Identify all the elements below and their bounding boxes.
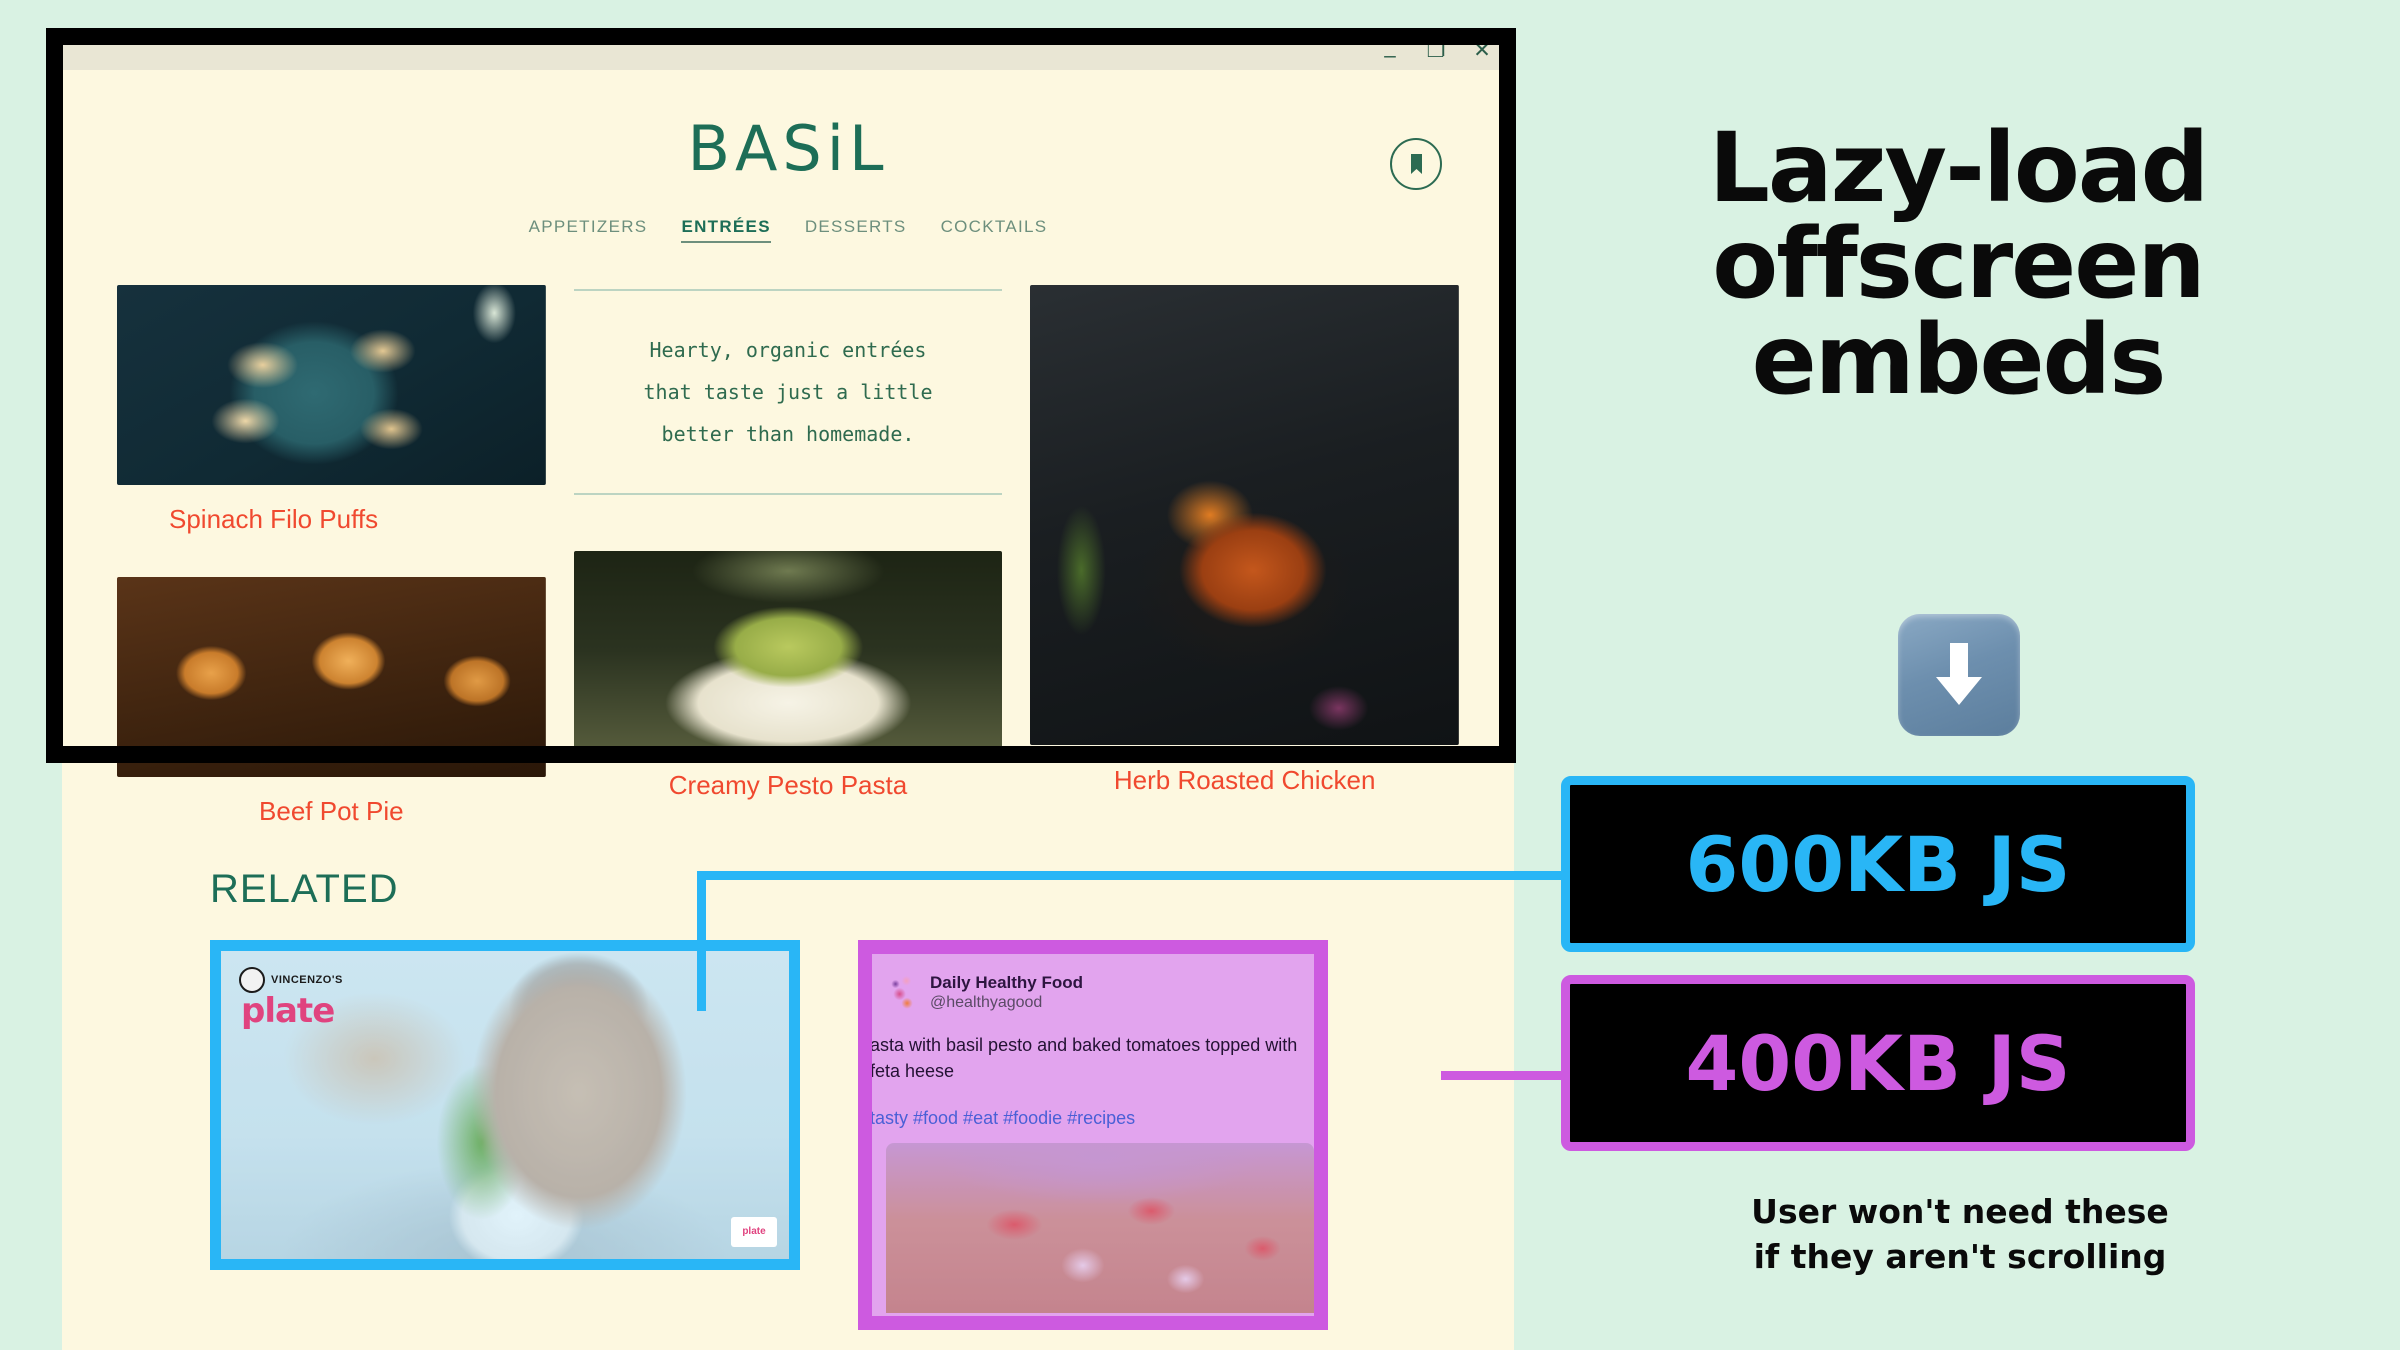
close-icon[interactable]: ✕ bbox=[1472, 40, 1492, 61]
tagline-line-0: Hearty, organic entrées bbox=[584, 329, 993, 371]
dish-image-spinach-filo-puffs[interactable] bbox=[117, 285, 546, 485]
menu-column-center: Hearty, organic entrées that taste just … bbox=[574, 285, 1003, 827]
tagline-box: Hearty, organic entrées that taste just … bbox=[574, 289, 1003, 495]
video-watermark: plate bbox=[731, 1217, 777, 1247]
site-brand: BASiL bbox=[62, 112, 1514, 185]
menu-grid: Spinach Filo Puffs Beef Pot Pie Hearty, … bbox=[62, 285, 1514, 827]
social-post-image[interactable] bbox=[886, 1143, 1314, 1313]
window-titlebar: – ❐ ✕ bbox=[62, 30, 1514, 70]
connector-line-cyan-horizontal bbox=[697, 871, 1572, 880]
dish-caption-3: Herb Roasted Chicken bbox=[1030, 765, 1459, 796]
social-embed-identity: Daily Healthy Food @healthyagood bbox=[930, 972, 1083, 1014]
menu-column-right: Herb Roasted Chicken bbox=[1030, 285, 1459, 827]
channel-wordmark: plate bbox=[241, 991, 334, 1031]
nav-item-entrees[interactable]: ENTRÉES bbox=[681, 217, 770, 243]
dish-image-herb-roasted-chicken[interactable] bbox=[1030, 285, 1459, 745]
dish-image-creamy-pesto-pasta[interactable] bbox=[574, 551, 1003, 751]
social-post-text: asta with basil pesto and baked tomatoes… bbox=[870, 1014, 1314, 1084]
video-channel-logo: VINCENZO'S bbox=[239, 967, 343, 993]
social-author-handle: @healthyagood bbox=[930, 993, 1083, 1014]
avatar bbox=[886, 972, 920, 1012]
tagline-line-2: better than homemade. bbox=[584, 413, 993, 455]
annotation-footnote: User won't need these if they aren't scr… bbox=[1520, 1190, 2400, 1279]
social-author-name: Daily Healthy Food bbox=[930, 972, 1083, 993]
dish-caption-1: Beef Pot Pie bbox=[117, 797, 546, 827]
annotation-headline: Lazy-load offscreen embeds bbox=[1516, 120, 2400, 408]
dish-caption-2: Creamy Pesto Pasta bbox=[574, 771, 1003, 801]
menu-column-left: Spinach Filo Puffs Beef Pot Pie bbox=[117, 285, 546, 827]
badge-600kb-js: 600KB JS bbox=[1561, 776, 2195, 952]
bookmark-icon bbox=[1408, 153, 1425, 175]
video-embed[interactable]: VINCENZO'S plate plate bbox=[210, 940, 800, 1270]
nav-item-cocktails[interactable]: COCKTAILS bbox=[941, 217, 1048, 243]
browser-page: – ❐ ✕ BASiL APPETIZERS ENTRÉES DESSERTS … bbox=[62, 30, 1514, 1350]
nav-item-desserts[interactable]: DESSERTS bbox=[805, 217, 907, 243]
site-nav: APPETIZERS ENTRÉES DESSERTS COCKTAILS bbox=[62, 217, 1514, 243]
dish-caption-0: Spinach Filo Puffs bbox=[117, 505, 546, 535]
tagline-line-1: that taste just a little bbox=[584, 371, 993, 413]
dish-image-beef-pot-pie[interactable] bbox=[117, 577, 546, 777]
connector-line-cyan-vertical bbox=[697, 871, 706, 1011]
site-header: BASiL APPETIZERS ENTRÉES DESSERTS COCKTA… bbox=[62, 70, 1514, 243]
social-post-hashtags[interactable]: tasty #food #eat #foodie #recipes bbox=[870, 1084, 1314, 1129]
embeds-row: VINCENZO'S plate plate Daily Healthy Foo… bbox=[62, 940, 1514, 1330]
bookmark-button[interactable] bbox=[1390, 138, 1442, 190]
channel-avatar-icon bbox=[239, 967, 265, 993]
connector-line-magenta bbox=[1441, 1071, 1573, 1080]
minimize-icon[interactable]: – bbox=[1380, 45, 1400, 66]
social-embed[interactable]: Daily Healthy Food @healthyagood asta wi… bbox=[858, 940, 1328, 1330]
badge-400kb-js: 400KB JS bbox=[1561, 975, 2195, 1151]
maximize-icon[interactable]: ❐ bbox=[1426, 40, 1446, 61]
download-arrow-icon bbox=[1898, 614, 2020, 736]
social-embed-header: Daily Healthy Food @healthyagood bbox=[872, 972, 1314, 1014]
nav-item-appetizers[interactable]: APPETIZERS bbox=[529, 217, 648, 243]
channel-name: VINCENZO'S bbox=[271, 974, 343, 986]
